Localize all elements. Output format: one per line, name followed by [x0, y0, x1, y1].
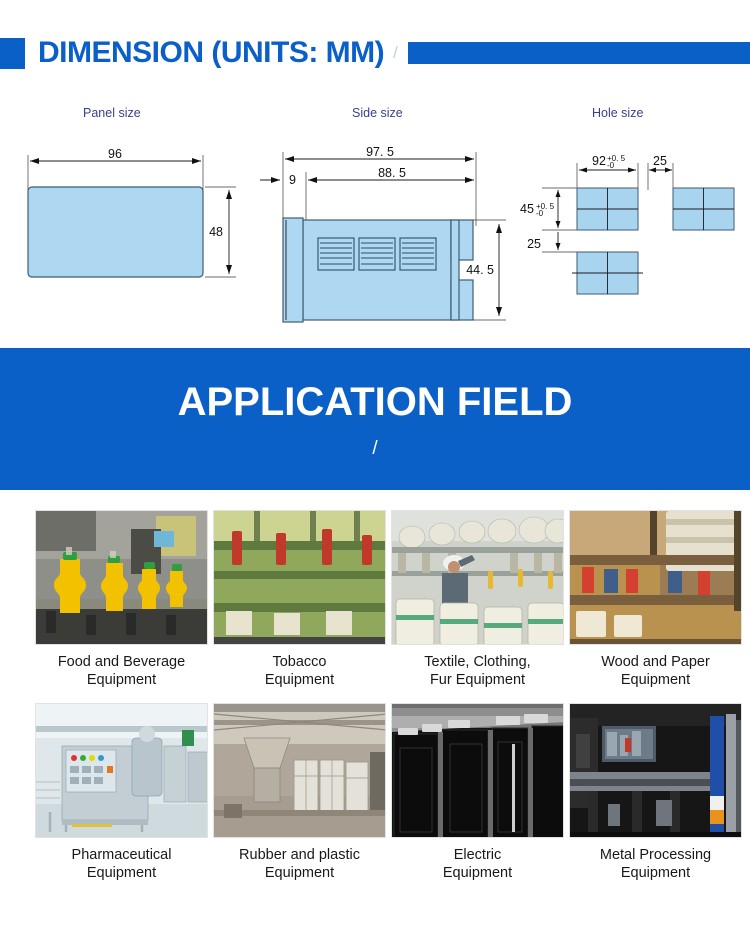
- textile-spinning-machine-photo: [391, 510, 564, 645]
- electric-cabinets-photo: [391, 703, 564, 838]
- rubber-plastic-plant-photo: [213, 703, 386, 838]
- hole-height-value: 45: [520, 202, 534, 216]
- application-card-caption: Food and Beverage Equipment: [35, 645, 208, 689]
- application-card-rubber-plastic[interactable]: Rubber and plastic Equipment: [213, 703, 386, 882]
- tobacco-production-line-photo: [213, 510, 386, 645]
- side-body-length-value: 88. 5: [378, 166, 406, 180]
- side-bezel-value: 9: [289, 173, 296, 187]
- panel-size-label: Panel size: [83, 106, 141, 120]
- side-size-label: Side size: [352, 106, 403, 120]
- application-grid-row-1: Food and Beverage Equipment: [0, 510, 750, 689]
- accent-square-icon: [0, 38, 25, 69]
- application-card-caption: Pharmaceutical Equipment: [35, 838, 208, 882]
- hole-rect-bottom-left: [572, 252, 643, 294]
- hole-size-label: Hole size: [592, 106, 643, 120]
- application-field-grid: Food and Beverage Equipment: [0, 510, 750, 883]
- application-card-caption: Wood and Paper Equipment: [569, 645, 742, 689]
- application-card-textile[interactable]: Textile, Clothing, Fur Equipment: [391, 510, 564, 689]
- metal-processing-line-photo: [569, 703, 742, 838]
- panel-width-value: 96: [108, 147, 122, 161]
- hole-size-diagram: 92 +0. 5 -0 25 45 +0. 5 -0 25: [515, 130, 750, 340]
- juice-bottles-conveyor-photo: [35, 510, 208, 645]
- product-detail-page: DIMENSION (UNITS: MM) / Panel size 96 48: [0, 0, 750, 938]
- hole-gap-horizontal-value: 25: [653, 154, 667, 168]
- application-card-metal-processing[interactable]: Metal Processing Equipment: [569, 703, 742, 882]
- side-height-value: 44. 5: [466, 263, 494, 277]
- panel-size-diagram: 96 48: [10, 130, 250, 340]
- dimension-section-header: DIMENSION (UNITS: MM) /: [0, 36, 750, 70]
- application-card-caption: Electric Equipment: [391, 838, 564, 882]
- application-card-caption: Textile, Clothing, Fur Equipment: [391, 645, 564, 689]
- hole-rect-top-right: [673, 188, 734, 230]
- hole-width-tol-lower: -0: [607, 161, 615, 170]
- application-field-banner: APPLICATION FIELD /: [0, 348, 750, 490]
- hole-gap-vertical-value: 25: [527, 237, 541, 251]
- header-accent-bar: [408, 42, 750, 64]
- application-card-food-beverage[interactable]: Food and Beverage Equipment: [35, 510, 208, 689]
- application-card-caption: Metal Processing Equipment: [569, 838, 742, 882]
- dimension-section-title: DIMENSION (UNITS: MM): [38, 36, 384, 70]
- side-total-length-value: 97. 5: [366, 145, 394, 159]
- pharmaceutical-cleanroom-photo: [35, 703, 208, 838]
- dimension-title-slash: /: [393, 36, 398, 70]
- hole-rect-top-left: [577, 188, 638, 230]
- hole-width-value: 92: [592, 154, 606, 168]
- dimension-diagrams: Panel size 96 48 Side size: [0, 92, 750, 322]
- application-card-tobacco[interactable]: Tobacco Equipment: [213, 510, 386, 689]
- application-grid-row-2: Pharmaceutical Equipment: [0, 703, 750, 882]
- side-size-diagram: 97. 5 88. 5 9: [258, 130, 518, 340]
- application-card-wood-paper[interactable]: Wood and Paper Equipment: [569, 510, 742, 689]
- application-card-electric[interactable]: Electric Equipment: [391, 703, 564, 882]
- paper-mill-rolls-photo: [569, 510, 742, 645]
- application-field-title: APPLICATION FIELD: [178, 381, 573, 423]
- panel-height-value: 48: [209, 225, 223, 239]
- application-card-caption: Rubber and plastic Equipment: [213, 838, 386, 882]
- application-title-slash: /: [372, 439, 377, 458]
- application-card-pharmaceutical[interactable]: Pharmaceutical Equipment: [35, 703, 208, 882]
- hole-height-tol-lower: -0: [536, 209, 544, 218]
- application-card-caption: Tobacco Equipment: [213, 645, 386, 689]
